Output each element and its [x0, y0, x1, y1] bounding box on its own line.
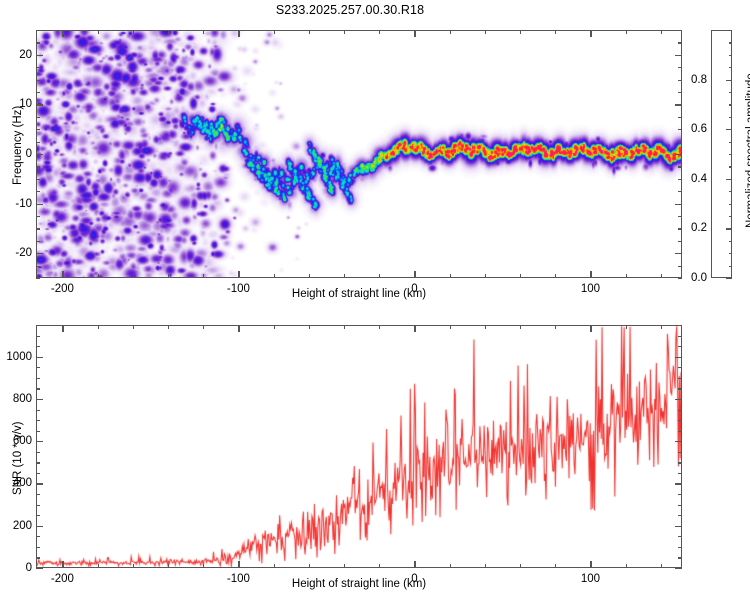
x-tick — [309, 274, 310, 278]
x-tick — [238, 271, 239, 278]
y-tick — [36, 494, 40, 495]
y-tick — [36, 129, 40, 130]
y-tick — [36, 216, 40, 217]
y-tick — [36, 336, 40, 337]
colorbar-tick — [729, 241, 732, 242]
colorbar-tick — [729, 154, 732, 155]
colorbar-tick — [729, 191, 732, 192]
y-tick — [36, 179, 40, 180]
colorbar-tick — [729, 266, 732, 267]
snr-xlabel: Height of straight line (km) — [292, 578, 426, 590]
y-tick — [36, 410, 40, 411]
spectrogram-xlabel: Height of straight line (km) — [292, 288, 426, 300]
x-tick — [98, 274, 99, 278]
x-tick-top — [661, 30, 662, 34]
y-tick-right — [675, 568, 682, 569]
y-tick-right — [678, 30, 682, 31]
y-tick — [36, 228, 40, 229]
y-tick-label: 20 — [2, 49, 32, 61]
colorbar-tick — [726, 278, 732, 279]
y-tick-right — [678, 378, 682, 379]
y-tick — [36, 80, 40, 81]
snr-ylabel: SNR (10 * v/v) — [12, 422, 24, 496]
y-tick-label: -10 — [2, 198, 32, 210]
y-tick-right — [678, 557, 682, 558]
x-tick-label: -200 — [51, 573, 74, 585]
x-tick — [485, 564, 486, 568]
colorbar-tick-label: 0.2 — [681, 222, 707, 234]
x-tick-top — [450, 30, 451, 34]
y-tick — [36, 117, 40, 118]
y-tick-right — [678, 142, 682, 143]
y-tick-label: -20 — [2, 247, 32, 259]
y-tick — [36, 536, 40, 537]
x-tick — [520, 564, 521, 568]
x-tick-top — [168, 30, 169, 34]
colorbar-tick — [729, 216, 732, 217]
x-tick-top — [133, 30, 134, 34]
y-tick-right — [678, 515, 682, 516]
x-tick-top — [555, 325, 556, 329]
x-tick — [274, 274, 275, 278]
y-tick — [36, 431, 40, 432]
x-tick-top — [414, 325, 415, 332]
y-tick-right — [675, 253, 682, 254]
y-tick — [36, 515, 40, 516]
x-tick-top — [62, 30, 63, 37]
x-tick-top — [98, 30, 99, 34]
colorbar-tick — [729, 30, 732, 31]
y-tick-right — [678, 92, 682, 93]
y-tick — [36, 399, 43, 400]
colorbar-tick-label: 0.6 — [681, 123, 707, 135]
x-tick — [414, 271, 415, 278]
y-tick-right — [675, 55, 682, 56]
snr-plot-area — [37, 326, 681, 567]
x-tick — [590, 271, 591, 278]
y-tick — [36, 441, 43, 442]
x-tick-label: 100 — [581, 573, 600, 585]
y-tick — [36, 568, 43, 569]
y-tick-right — [675, 483, 682, 484]
x-tick — [274, 564, 275, 568]
x-tick — [626, 564, 627, 568]
y-tick-right — [678, 388, 682, 389]
y-tick-right — [675, 441, 682, 442]
x-tick — [203, 564, 204, 568]
colorbar-tick — [729, 166, 732, 167]
y-tick-right — [675, 526, 682, 527]
x-tick-top — [309, 30, 310, 34]
y-tick — [36, 483, 43, 484]
y-tick — [36, 142, 40, 143]
spectrogram-ylabel: Frequency (Hz) — [12, 106, 24, 185]
colorbar-tick-label: 0.8 — [681, 74, 707, 86]
x-tick — [555, 274, 556, 278]
x-tick-label: -100 — [227, 283, 250, 295]
y-tick — [36, 388, 40, 389]
y-tick-right — [678, 166, 682, 167]
y-tick — [36, 346, 40, 347]
y-tick-right — [675, 104, 682, 105]
y-tick — [36, 42, 40, 43]
y-tick-right — [678, 67, 682, 68]
y-tick-right — [678, 536, 682, 537]
y-tick-right — [678, 505, 682, 506]
y-tick — [36, 204, 43, 205]
y-tick-right — [678, 547, 682, 548]
colorbar-tick — [726, 80, 732, 81]
y-tick — [36, 378, 40, 379]
y-tick — [36, 154, 43, 155]
y-tick-right — [678, 191, 682, 192]
colorbar-tick — [726, 129, 732, 130]
x-tick-top — [344, 325, 345, 329]
x-tick-top — [661, 325, 662, 329]
x-tick-top — [520, 30, 521, 34]
x-tick-top — [414, 30, 415, 37]
y-tick-right — [678, 452, 682, 453]
x-tick — [626, 274, 627, 278]
y-tick-right — [678, 431, 682, 432]
x-tick-label: 100 — [581, 283, 600, 295]
x-tick — [520, 274, 521, 278]
x-tick-top — [379, 30, 380, 34]
x-tick-top — [344, 30, 345, 34]
x-tick-top — [98, 325, 99, 329]
y-tick — [36, 357, 43, 358]
figure-title: S233.2025.257.00.30.R18 — [0, 3, 700, 17]
y-tick-label: 200 — [2, 520, 32, 532]
y-tick — [36, 266, 40, 267]
colorbar-tick — [729, 104, 732, 105]
y-tick — [36, 241, 40, 242]
colorbar-tick — [726, 228, 732, 229]
colorbar-tick — [729, 67, 732, 68]
y-tick — [36, 462, 40, 463]
x-tick-top — [590, 325, 591, 332]
y-tick — [36, 92, 40, 93]
figure-root: S233.2025.257.00.30.R18 -200-1000100-20-… — [0, 0, 750, 600]
x-tick — [450, 274, 451, 278]
x-tick-top — [485, 30, 486, 34]
y-tick — [36, 325, 40, 326]
x-tick — [379, 564, 380, 568]
x-tick — [590, 561, 591, 568]
y-tick — [36, 253, 43, 254]
y-tick — [36, 30, 40, 31]
y-tick — [36, 473, 40, 474]
x-tick-top — [450, 325, 451, 329]
y-tick-right — [678, 410, 682, 411]
y-tick-right — [678, 367, 682, 368]
y-tick-label: 1000 — [2, 351, 32, 363]
x-tick — [62, 271, 63, 278]
y-tick — [36, 367, 40, 368]
x-tick — [414, 561, 415, 568]
colorbar-label: Normalized spectral amplitude — [745, 73, 750, 228]
y-tick-label: 800 — [2, 393, 32, 405]
x-tick — [344, 274, 345, 278]
x-tick — [344, 564, 345, 568]
x-tick-top — [238, 30, 239, 37]
y-tick — [36, 278, 40, 279]
colorbar-tick — [729, 55, 732, 56]
y-tick-right — [678, 325, 682, 326]
y-tick — [36, 526, 43, 527]
x-tick — [661, 564, 662, 568]
x-tick-top — [62, 325, 63, 332]
x-tick-top — [274, 325, 275, 329]
colorbar-tick — [729, 253, 732, 254]
y-tick — [36, 452, 40, 453]
x-tick — [238, 561, 239, 568]
y-tick-right — [678, 473, 682, 474]
x-tick — [168, 564, 169, 568]
y-tick-right — [678, 117, 682, 118]
x-tick — [661, 274, 662, 278]
colorbar-tick — [729, 117, 732, 118]
y-tick — [36, 191, 40, 192]
colorbar-tick — [729, 92, 732, 93]
y-tick-right — [675, 399, 682, 400]
y-tick-right — [675, 154, 682, 155]
x-tick-top — [309, 325, 310, 329]
y-tick — [36, 55, 43, 56]
x-tick — [203, 274, 204, 278]
x-tick-top — [203, 325, 204, 329]
y-tick-right — [678, 42, 682, 43]
y-tick — [36, 420, 40, 421]
x-tick-label: -100 — [227, 573, 250, 585]
x-tick-top — [238, 325, 239, 332]
x-tick-top — [203, 30, 204, 34]
y-tick — [36, 104, 43, 105]
y-tick-right — [675, 204, 682, 205]
x-tick — [168, 274, 169, 278]
y-tick-right — [678, 462, 682, 463]
x-tick — [133, 564, 134, 568]
x-tick-top — [168, 325, 169, 329]
x-tick — [309, 564, 310, 568]
x-tick — [62, 561, 63, 568]
x-tick — [555, 564, 556, 568]
y-tick — [36, 557, 40, 558]
x-tick-label: -200 — [51, 283, 74, 295]
colorbar-tick — [726, 179, 732, 180]
y-tick — [36, 166, 40, 167]
colorbar-tick-label: 0.0 — [681, 272, 707, 284]
x-tick — [98, 564, 99, 568]
x-tick-top — [520, 325, 521, 329]
x-tick-top — [555, 30, 556, 34]
x-tick-top — [590, 30, 591, 37]
x-tick-top — [626, 325, 627, 329]
y-tick-right — [678, 266, 682, 267]
y-tick-right — [678, 216, 682, 217]
x-tick-top — [133, 325, 134, 329]
x-tick — [485, 274, 486, 278]
colorbar-tick — [729, 204, 732, 205]
x-tick — [450, 564, 451, 568]
colorbar-tick — [729, 42, 732, 43]
y-tick-label: 0 — [2, 562, 32, 574]
y-tick-right — [675, 357, 682, 358]
colorbar-tick — [729, 142, 732, 143]
x-tick-top — [379, 325, 380, 329]
spectrogram-plot-area — [37, 31, 681, 277]
y-tick-right — [678, 336, 682, 337]
x-tick-top — [626, 30, 627, 34]
y-tick — [36, 505, 40, 506]
y-tick-right — [678, 346, 682, 347]
y-tick — [36, 547, 40, 548]
y-tick-right — [678, 241, 682, 242]
y-tick-right — [678, 420, 682, 421]
y-tick-right — [678, 494, 682, 495]
x-tick-top — [274, 30, 275, 34]
y-tick — [36, 67, 40, 68]
colorbar-tick-label: 0.4 — [681, 173, 707, 185]
x-tick — [379, 274, 380, 278]
x-tick — [133, 274, 134, 278]
x-tick-top — [485, 325, 486, 329]
